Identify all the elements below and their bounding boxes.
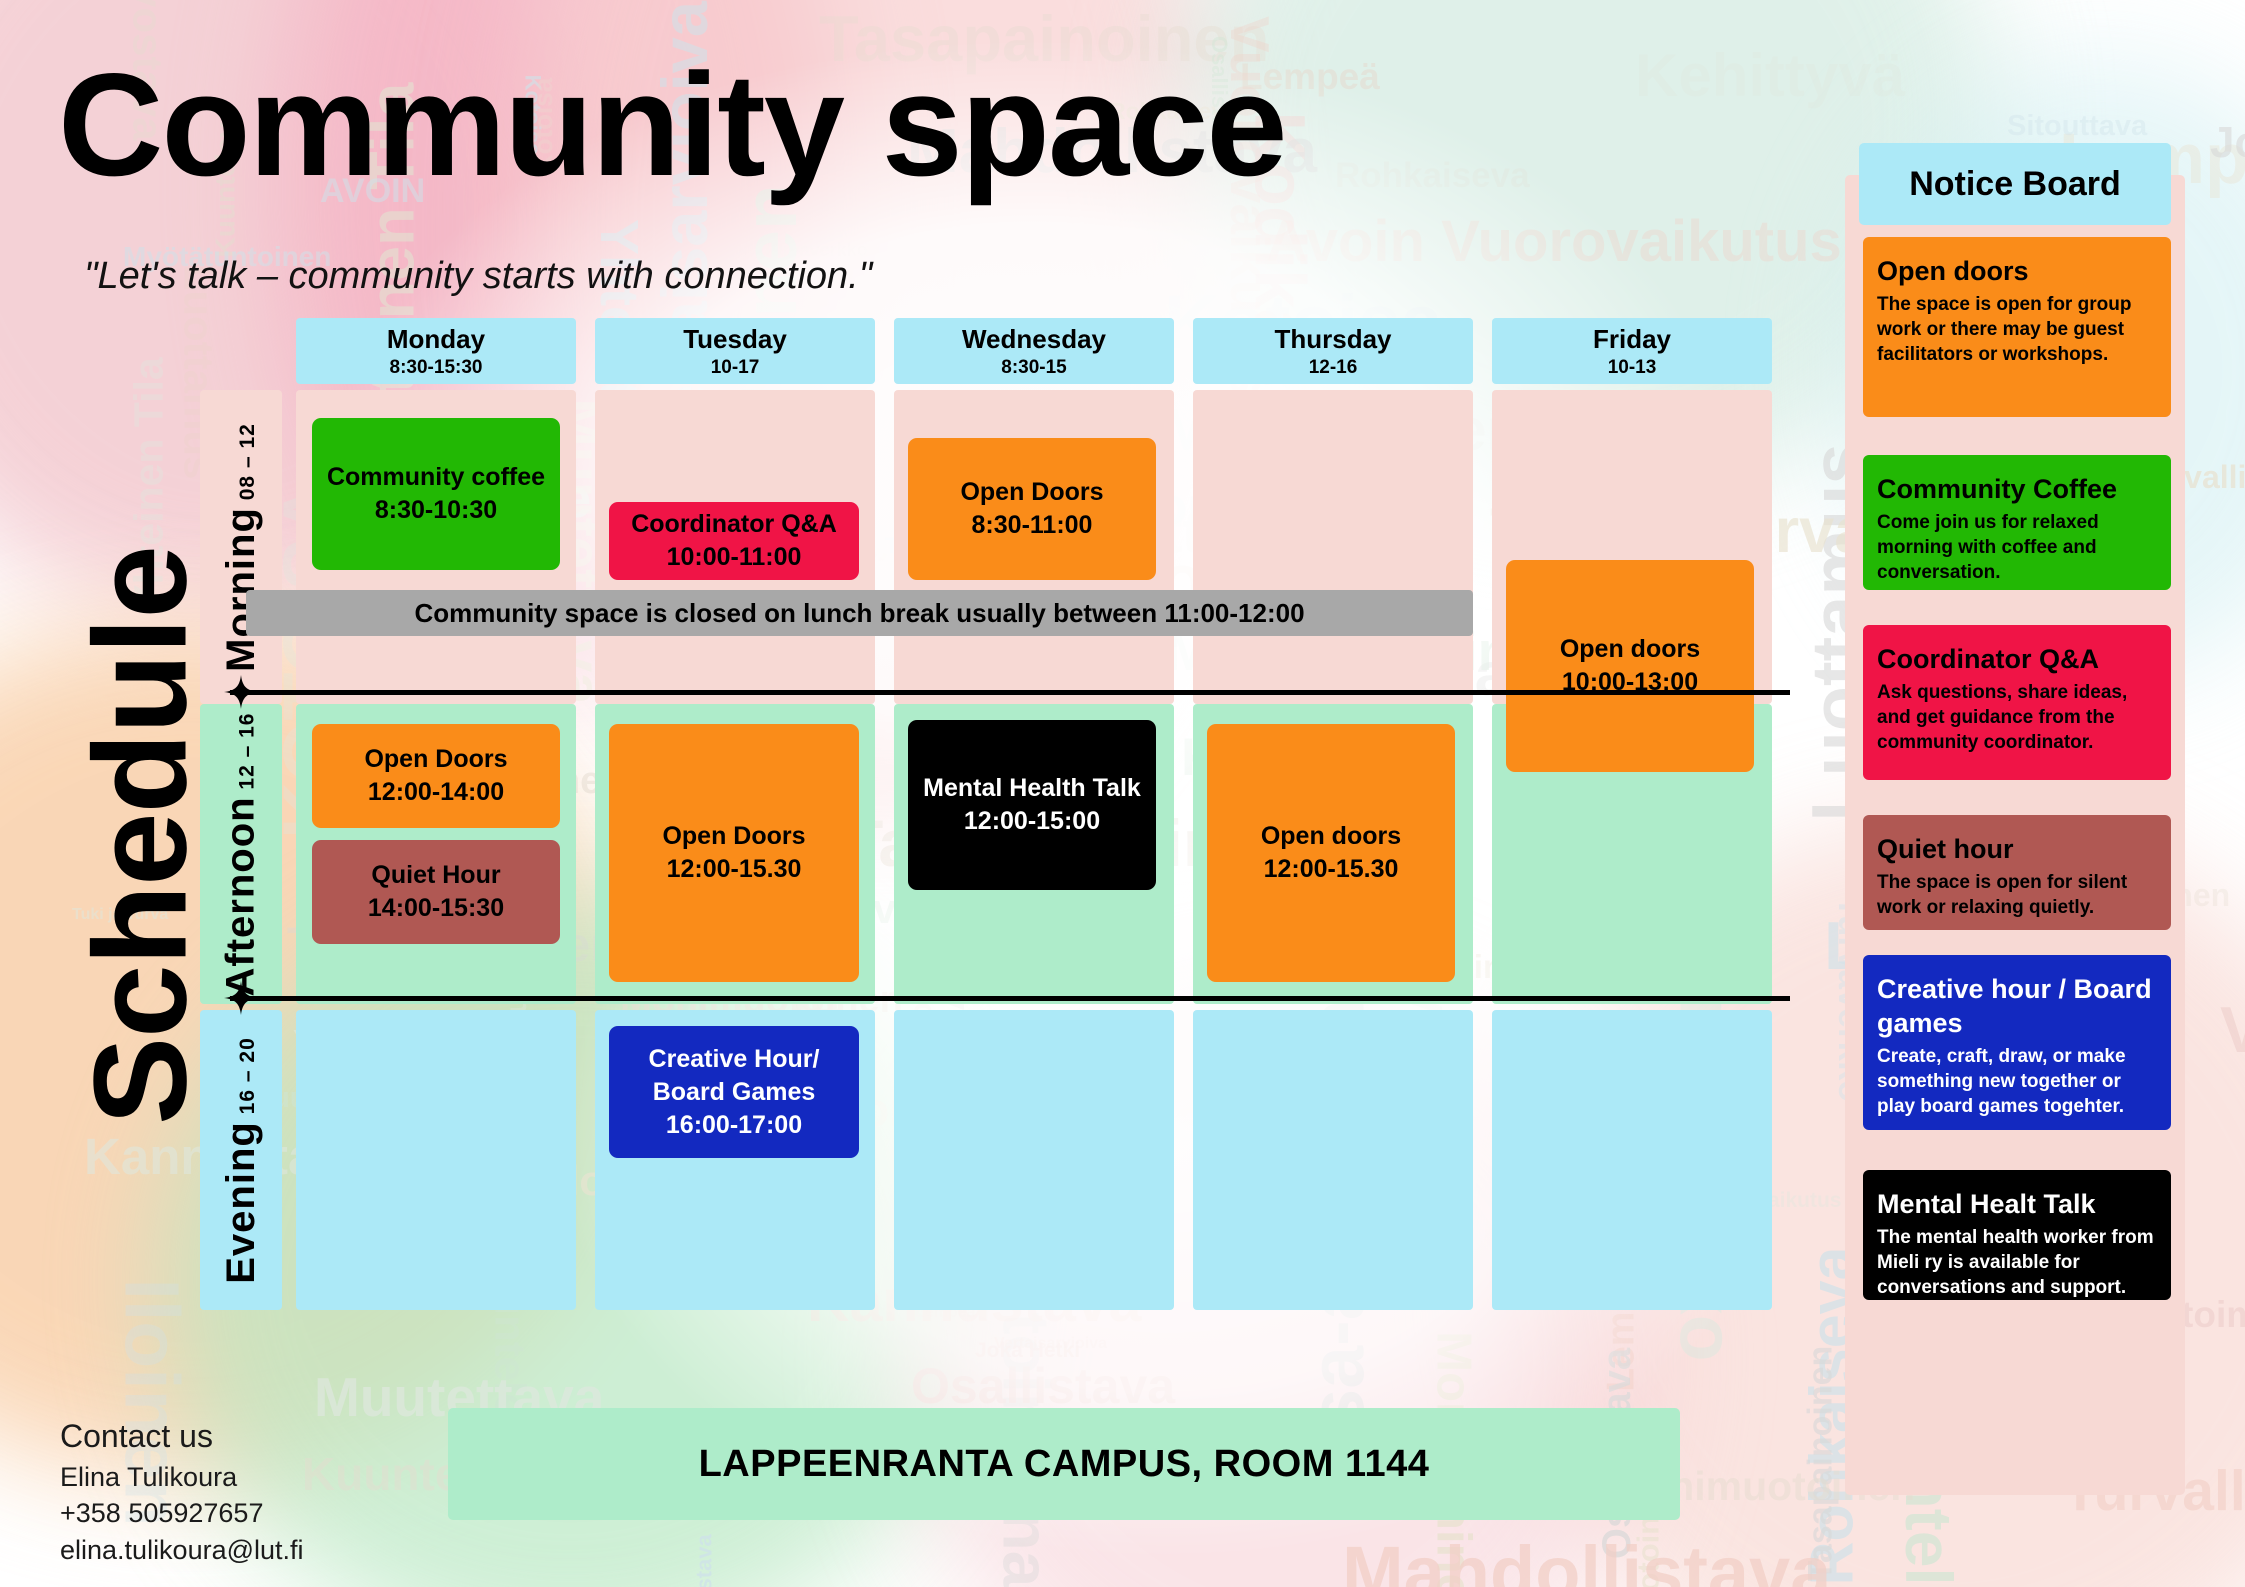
row-label-time: 16 – 20 xyxy=(236,1037,259,1121)
event-thu-open-pm[interactable]: Open doors12:00-15.30 xyxy=(1207,724,1455,982)
notice-card-body: The space is open for silent work or rel… xyxy=(1877,870,2157,920)
row-label-name: Evening xyxy=(219,1121,263,1284)
notice-card-mental-healt-talk[interactable]: Mental Healt TalkThe mental health worke… xyxy=(1863,1170,2171,1300)
day-header-monday: Monday8:30-15:30 xyxy=(296,318,576,384)
notice-card-open-doors[interactable]: Open doorsThe space is open for group wo… xyxy=(1863,237,2171,417)
divider-afternoon-evening xyxy=(230,996,1790,1001)
event-time: 14:00-15:30 xyxy=(368,892,504,925)
notice-card-body: The mental health worker from Mieli ry i… xyxy=(1877,1225,2157,1300)
event-time: 10:00-11:00 xyxy=(667,541,802,574)
row-label-name: Afternoon xyxy=(219,796,263,996)
event-time: 12:00-15.30 xyxy=(1264,853,1399,886)
event-tue-open-pm[interactable]: Open Doors12:00-15.30 xyxy=(609,724,859,982)
schedule-side-label: Schedule xyxy=(65,456,216,1216)
event-time: 8:30-10:30 xyxy=(375,494,497,527)
event-mon-open-pm[interactable]: Open Doors12:00-14:00 xyxy=(312,724,560,828)
notice-card-body: Come join us for relaxed morning with co… xyxy=(1877,510,2157,585)
notice-board-title: Notice Board xyxy=(1859,143,2171,225)
grid-cell-thursday-evening[interactable] xyxy=(1193,1010,1473,1310)
event-wed-mental[interactable]: Mental Health Talk12:00-15:00 xyxy=(908,720,1156,890)
day-header-thursday: Thursday12-16 xyxy=(1193,318,1473,384)
location-banner: LAPPEENRANTA CAMPUS, ROOM 1144 xyxy=(448,1408,1680,1520)
row-label-name: Morning xyxy=(219,507,263,672)
event-time: 16:00-17:00 xyxy=(666,1109,802,1142)
contact-email: elina.tulikoura@lut.fi xyxy=(60,1532,304,1568)
event-title: Open Doors xyxy=(364,743,507,776)
notice-card-body: Create, craft, draw, or make something n… xyxy=(1877,1044,2157,1119)
notice-card-community-coffee[interactable]: Community CoffeeCome join us for relaxed… xyxy=(1863,455,2171,590)
notice-card-title: Coordinator Q&A xyxy=(1877,643,2157,677)
event-wed-open-am[interactable]: Open Doors8:30-11:00 xyxy=(908,438,1156,580)
day-header-tuesday: Tuesday10-17 xyxy=(595,318,875,384)
day-hours: 10-17 xyxy=(711,357,760,379)
day-hours: 8:30-15 xyxy=(1001,357,1067,379)
notice-card-title: Community Coffee xyxy=(1877,473,2157,507)
day-name: Friday xyxy=(1593,324,1671,355)
row-label-time: 12 – 16 xyxy=(236,712,259,796)
schedule-grid: Morning 08 – 12Afternoon 12 – 16Evening … xyxy=(200,318,1790,1313)
event-title: Quiet Hour xyxy=(371,859,500,892)
page-subtitle: "Let's talk – community starts with conn… xyxy=(84,255,872,298)
grid-cell-wednesday-evening[interactable] xyxy=(894,1010,1174,1310)
event-title: Open Doors xyxy=(662,820,805,853)
day-hours: 8:30-15:30 xyxy=(390,357,483,379)
grid-cell-friday-evening[interactable] xyxy=(1492,1010,1772,1310)
event-mon-coffee[interactable]: Community coffee8:30-10:30 xyxy=(312,418,560,570)
event-mon-quiet[interactable]: Quiet Hour14:00-15:30 xyxy=(312,840,560,944)
event-tue-creative[interactable]: Creative Hour/ Board Games16:00-17:00 xyxy=(609,1026,859,1158)
row-label-afternoon: Afternoon 12 – 16 xyxy=(200,704,282,1004)
event-title: Mental Health Talk xyxy=(923,772,1141,805)
day-name: Monday xyxy=(387,324,485,355)
notice-card-body: Ask questions, share ideas, and get guid… xyxy=(1877,680,2157,755)
notice-board: Notice Board Open doorsThe space is open… xyxy=(1845,175,2185,1495)
day-name: Tuesday xyxy=(683,324,787,355)
contact-block: Contact us Elina Tulikoura +358 50592765… xyxy=(60,1418,304,1568)
divider-morning-afternoon xyxy=(230,690,1790,695)
grid-cell-monday-evening[interactable] xyxy=(296,1010,576,1310)
event-time: 12:00-14:00 xyxy=(368,776,504,809)
event-title: Community coffee xyxy=(327,461,545,494)
day-name: Wednesday xyxy=(962,324,1106,355)
notice-card-title: Creative hour / Board games xyxy=(1877,973,2157,1041)
page-title: Community space xyxy=(58,52,1286,198)
event-fri-open[interactable]: Open doors10:00-13:00 xyxy=(1506,560,1754,772)
notice-card-title: Open doors xyxy=(1877,255,2157,289)
notice-card-body: The space is open for group work or ther… xyxy=(1877,292,2157,367)
grid-cell-thursday-morning[interactable] xyxy=(1193,390,1473,704)
event-title: Open Doors xyxy=(960,476,1103,509)
event-title: Open doors xyxy=(1560,633,1700,666)
event-title: Open doors xyxy=(1261,820,1401,853)
notice-card-creative-hour-board-games[interactable]: Creative hour / Board gamesCreate, craft… xyxy=(1863,955,2171,1130)
sparkle-icon xyxy=(224,675,258,709)
row-label-morning: Morning 08 – 12 xyxy=(200,390,282,704)
row-label-time: 08 – 12 xyxy=(236,423,259,507)
day-hours: 12-16 xyxy=(1309,357,1358,379)
notice-card-title: Quiet hour xyxy=(1877,833,2157,867)
row-label-evening: Evening 16 – 20 xyxy=(200,1010,282,1310)
contact-name: Elina Tulikoura xyxy=(60,1459,304,1495)
contact-phone: +358 505927657 xyxy=(60,1495,304,1531)
event-title: Creative Hour/ Board Games xyxy=(617,1043,851,1109)
event-title: Coordinator Q&A xyxy=(631,508,837,541)
lunch-break-notice: Community space is closed on lunch break… xyxy=(246,590,1473,636)
day-hours: 10-13 xyxy=(1608,357,1657,379)
day-header-friday: Friday10-13 xyxy=(1492,318,1772,384)
contact-heading: Contact us xyxy=(60,1418,304,1455)
day-name: Thursday xyxy=(1274,324,1391,355)
notice-card-quiet-hour[interactable]: Quiet hourThe space is open for silent w… xyxy=(1863,815,2171,930)
sparkle-icon xyxy=(224,981,258,1015)
notice-card-title: Mental Healt Talk xyxy=(1877,1188,2157,1222)
event-time: 12:00-15.30 xyxy=(667,853,802,886)
day-header-wednesday: Wednesday8:30-15 xyxy=(894,318,1174,384)
event-tue-qa[interactable]: Coordinator Q&A10:00-11:00 xyxy=(609,502,859,580)
event-time: 12:00-15:00 xyxy=(964,805,1100,838)
event-time: 8:30-11:00 xyxy=(972,509,1093,542)
notice-card-coordinator-q-a[interactable]: Coordinator Q&AAsk questions, share idea… xyxy=(1863,625,2171,780)
